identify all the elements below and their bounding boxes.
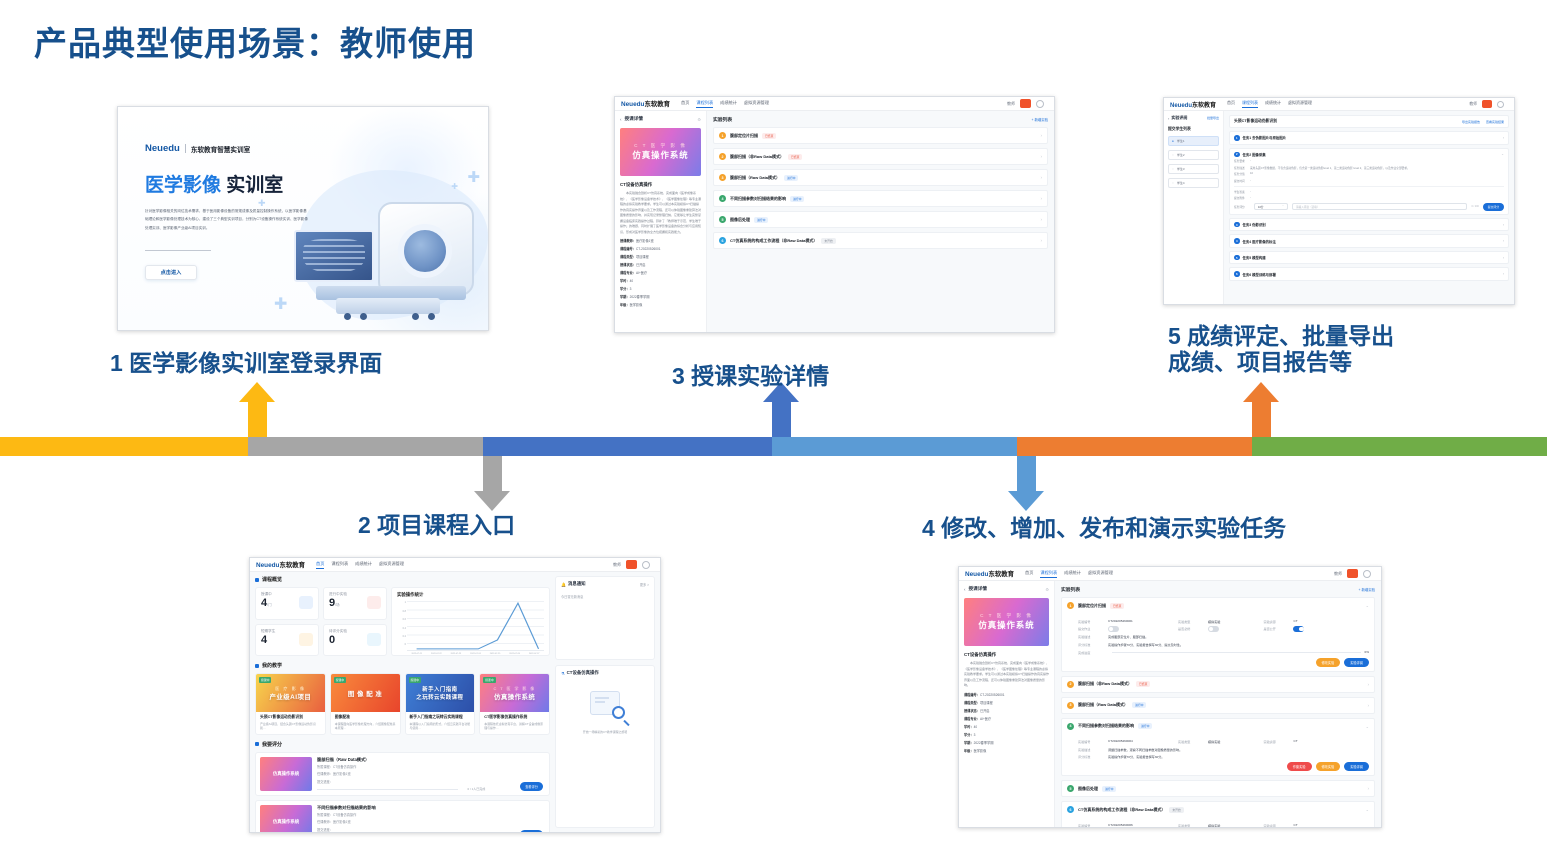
screenshot-course-detail: Neuedu东软教育 首页 课程列表 成绩统计 虚拟资源管理 教师 ‹ 授课详情… bbox=[614, 96, 1055, 333]
thumb-line2: 仿真操作系统 bbox=[273, 819, 299, 825]
back-to-review[interactable]: ‹ 实验评阅 批量导出 bbox=[1168, 115, 1219, 121]
experiment-row[interactable]: 2 腹部扫描（非Raw Data模式） 已结束 › bbox=[713, 148, 1048, 165]
field-value: CT bbox=[1293, 619, 1297, 624]
login-heading: 医学影像 实训室 bbox=[145, 170, 283, 197]
y-tick: 0.6 bbox=[403, 618, 406, 621]
course-detail-nav: 首页 课程列表 成绩统计 虚拟资源管理 bbox=[681, 100, 769, 108]
task-field: 提交附件- bbox=[1234, 196, 1504, 200]
brand-logo: Neuedu东软教育 bbox=[621, 99, 670, 108]
experiment-index: 1 bbox=[719, 132, 726, 139]
course-meta: 图像配准 本课程面向医学影像处理方向，介绍图像配准基本原理… bbox=[331, 712, 400, 734]
task-row-expanded: 2 任务2 图像采集 ⌄ 任务要求- 任务描述采用头颈CT影像数据，不包含运动伪… bbox=[1229, 148, 1509, 215]
grading-thumbnail: 仿真操作系统 bbox=[260, 805, 312, 833]
task-field: 学生答案- bbox=[1234, 190, 1504, 194]
field-key: 提交作业 bbox=[1078, 626, 1108, 632]
task-title: 任务5 模型构建 bbox=[1243, 255, 1266, 260]
void-experiment-button[interactable]: 作废实验 bbox=[1287, 762, 1312, 771]
student-item[interactable]: ○ 学生3 bbox=[1168, 164, 1219, 174]
experiment-name: 腹部扫描（非Raw Data模式） bbox=[1078, 681, 1132, 687]
student-item[interactable]: ● 学生1 bbox=[1168, 136, 1219, 146]
nav-item-home[interactable]: 首页 bbox=[681, 100, 689, 108]
experiment-row[interactable]: 2 腹部扫描（非Raw Data模式） 已结束 › bbox=[1061, 676, 1375, 693]
course-meta-row: 学分：3 bbox=[620, 286, 701, 291]
review-experiment-button[interactable]: 实验评阅 bbox=[1344, 762, 1369, 771]
screenshot-dashboard: Neuedu东软教育 首页 课程列表 成绩统计 虚拟资源管理 教师 课程概览 bbox=[249, 557, 661, 833]
course-desc: 产业级AI项目，结合头颈CT影像运动伪影识别… bbox=[260, 722, 321, 731]
edit-experiment-button[interactable]: 修改实验 bbox=[1316, 762, 1341, 771]
avatar[interactable] bbox=[626, 560, 637, 569]
field-key: 学生答案 bbox=[1234, 190, 1250, 194]
chevron-down-icon[interactable]: ⌄ bbox=[1366, 724, 1369, 729]
thumb-line2: 图 像 配 准 bbox=[348, 689, 382, 698]
experiment-name: 不同扫描参数对扫描结果的影响 bbox=[730, 196, 786, 202]
user-role-label: 教师 bbox=[1334, 571, 1342, 577]
experiment-name: 图像后处理 bbox=[1078, 786, 1098, 792]
experiment-card-expanded: 1 腹部定位片扫描 已结束 ⌄ 实验编号CT202205260001 实验类型模… bbox=[1061, 597, 1375, 672]
course-thumbnail: C T 医 学 影 像 仿真操作系统 bbox=[620, 128, 701, 176]
stat-card-teaching[interactable]: 授课中 4/门 bbox=[255, 587, 319, 620]
course-meta-row: 课程专业：AI+医疗 bbox=[620, 270, 701, 275]
grading-sidebar: ‹ 实验评阅 批量导出 提交学生列表 ● 学生1 ○ 学生2 ○ 学生3 bbox=[1164, 111, 1224, 304]
gear-icon[interactable]: ⚙ bbox=[1045, 587, 1049, 592]
course-meta-row: 学分：3 bbox=[964, 732, 1049, 737]
course-name: 头颈CT影像运动伪影识别 bbox=[260, 715, 321, 720]
chevron-right-icon[interactable]: › bbox=[1040, 154, 1042, 159]
section-bullet-icon bbox=[255, 664, 259, 668]
task-row[interactable]: 3 任务3 伪影识别 › bbox=[1229, 218, 1509, 232]
enter-button[interactable]: 点击进入 bbox=[145, 265, 197, 280]
timeline-arrow-down-4 bbox=[1008, 491, 1044, 511]
nav-item-score-stats[interactable]: 成绩统计 bbox=[1265, 100, 1281, 108]
experiment-row[interactable]: 3 腹部扫描（Raw Data模式） 进行中 › bbox=[1061, 697, 1375, 714]
nav-item-home[interactable]: 首页 bbox=[1227, 100, 1235, 108]
section-bullet-icon bbox=[255, 742, 259, 746]
experiment-header[interactable]: 6 CT仿真系统的构成工作流程（非Raw Data模式） 未开始 ⌄ bbox=[1062, 802, 1374, 817]
nav-item-home[interactable]: 首页 bbox=[316, 561, 324, 569]
nav-item-resource-mgmt[interactable]: 虚拟资源管理 bbox=[379, 561, 404, 569]
course-meta-row: 授课状态：已开启 bbox=[964, 708, 1049, 713]
timeline-caption-5: 5 成绩评定、批量导出 成绩、项目报告等 bbox=[1168, 323, 1394, 376]
y-tick: 1 bbox=[405, 601, 406, 604]
experiment-index: 1 bbox=[1067, 602, 1074, 609]
experiment-row[interactable]: 4 不同扫描参数对扫描结果的影响 进行中 › bbox=[713, 190, 1048, 207]
nav-item-score-stats[interactable]: 成绩统计 bbox=[1064, 570, 1081, 578]
chevron-right-icon[interactable]: › bbox=[1503, 256, 1504, 260]
chevron-right-icon[interactable]: › bbox=[1367, 703, 1369, 708]
notice-panel: 🔔 消息通知 更多 > 今日暂无新消息 bbox=[555, 576, 655, 660]
grading-title-text: 我要评分 bbox=[262, 741, 282, 748]
chevron-right-icon[interactable]: › bbox=[1367, 682, 1369, 687]
notification-icon[interactable] bbox=[642, 561, 650, 569]
public-toggle[interactable] bbox=[1293, 626, 1304, 632]
task-index: 2 bbox=[1234, 152, 1240, 158]
course-meta-row: 授课状态：已开启 bbox=[620, 262, 701, 267]
add-experiment-button[interactable]: + 新增实验 bbox=[1032, 117, 1048, 122]
task-edit-appbar: Neuedu东软教育 首页 课程列表 成绩统计 虚拟资源管理 教师 bbox=[959, 567, 1381, 581]
field-key: 实验编号 bbox=[1078, 619, 1108, 624]
experiment-list-title: 实验列表 bbox=[713, 116, 732, 123]
status-badge: 已结束 bbox=[788, 154, 802, 160]
timeline-arrow-up-5 bbox=[1243, 382, 1279, 402]
gear-icon[interactable]: ⚙ bbox=[697, 117, 701, 122]
x-tick: 2022-07-23 bbox=[451, 653, 462, 655]
nav-item-resource-mgmt[interactable]: 虚拟资源管理 bbox=[1088, 570, 1113, 578]
course-meta-row: 年级：医学影像 bbox=[620, 302, 701, 307]
experiment-row[interactable]: 1 腹部定位片扫描 已结束 › bbox=[713, 127, 1048, 144]
status-badge: 进行中 bbox=[1138, 723, 1152, 729]
search-illustration bbox=[561, 676, 649, 730]
notice-header: 🔔 消息通知 更多 > bbox=[561, 581, 649, 587]
field-key: 实验描述 bbox=[1078, 747, 1108, 752]
timeline-caption-3: 3 授课实验详情 bbox=[672, 363, 829, 389]
user-role-label: 教师 bbox=[1007, 101, 1015, 107]
task-row[interactable]: 6 任务6 模型训练与部署 › bbox=[1229, 267, 1509, 281]
stepper-icon[interactable]: ⌃ bbox=[1282, 205, 1284, 208]
section-bullet-icon bbox=[255, 578, 259, 582]
task-edit-nav: 首页 课程列表 成绩统计 虚拟资源管理 bbox=[1025, 570, 1113, 578]
field-value: 采用头颈CT影像数据，不包含运动伪影，包含第一类运动伪影level 1、第二类运… bbox=[1250, 166, 1410, 170]
user-role-label: 教师 bbox=[613, 562, 621, 568]
course-sidebar: ‹ 授课详情 ⚙ C T 医 学 影 像 仿真操作系统 CT设备仿真操作 本实验… bbox=[615, 111, 707, 332]
task-index: 3 bbox=[1234, 222, 1240, 228]
dashboard-appbar: Neuedu东软教育 首页 课程列表 成绩统计 虚拟资源管理 教师 bbox=[250, 558, 660, 572]
experiment-header[interactable]: 1 腹部定位片扫描 已结束 ⌄ bbox=[1062, 598, 1374, 613]
course-desc: 本课程以入门指南的形式，介绍云实践平台功能与使用… bbox=[410, 722, 471, 731]
nav-item-course-list[interactable]: 课程列表 bbox=[696, 100, 713, 108]
cloud-icon bbox=[367, 633, 381, 646]
timeline-caption-4: 4 修改、增加、发布和演示实验任务 bbox=[922, 515, 1286, 541]
comment-input[interactable]: 请输入评语（选填） bbox=[1292, 203, 1467, 210]
grading-progress-label: 提交进度： bbox=[317, 828, 545, 833]
stat-card-pending-grade[interactable]: 待评分实验 0 bbox=[323, 624, 387, 657]
notice-more-link[interactable]: 更多 > bbox=[640, 582, 649, 587]
task-title: 任务2 图像采集 bbox=[1243, 152, 1266, 157]
field-key: 评分标准 bbox=[1078, 642, 1108, 647]
xray-film-panel bbox=[294, 230, 374, 282]
task-title: 任务6 模型训练与部署 bbox=[1243, 272, 1276, 277]
notice-empty-text: 今日暂无新消息 bbox=[561, 594, 649, 599]
teaching-section-title: 我的教学 bbox=[255, 662, 550, 669]
chevron-down-icon[interactable]: ⌄ bbox=[1366, 807, 1369, 812]
nav-item-home[interactable]: 首页 bbox=[1025, 570, 1033, 578]
view-grade-button[interactable]: 查看评分 bbox=[520, 782, 543, 791]
y-tick: 0 bbox=[405, 643, 406, 646]
experiment-row[interactable]: 3 腹部扫描（Raw Data模式） 进行中 › bbox=[713, 169, 1048, 186]
status-badge: 未开始 bbox=[1169, 807, 1183, 813]
timeline-segment-orange bbox=[1017, 437, 1271, 456]
field-key: 提交时间 bbox=[1234, 179, 1250, 183]
task-row[interactable]: 5 任务5 模型构建 › bbox=[1229, 251, 1509, 265]
nav-item-score-stats[interactable]: 成绩统计 bbox=[720, 100, 737, 108]
course-thumbnail: C T 医 学 影 像 仿真操作系统 bbox=[964, 598, 1049, 646]
student-list-title: 提交学生列表 bbox=[1168, 127, 1219, 132]
grading-progress-label: 提交进度： bbox=[317, 780, 545, 785]
experiment-name: 腹部定位片扫描 bbox=[730, 133, 758, 139]
review-experiment-button[interactable]: 实验评阅 bbox=[1344, 658, 1369, 667]
ct-wheel bbox=[428, 313, 435, 320]
nav-item-resource-mgmt[interactable]: 虚拟资源管理 bbox=[744, 100, 769, 108]
grading-main: 头颈CT影像运动伪影识别 导出实验报告 查看实验结果 1 任务1 去伪影图片与原… bbox=[1224, 111, 1514, 304]
slide-canvas: 产品典型使用场景：教师使用 1 医学影像实训室登录界面 2 项目课程入口 3 授… bbox=[0, 0, 1547, 850]
grading-course: 所属课程：CT设备仿真操作 bbox=[317, 813, 545, 818]
appbar-right: 教师 bbox=[1334, 569, 1375, 578]
course-thumbnail: 授课中 新手入门指南 之玩转云实践课程 bbox=[406, 674, 475, 712]
course-name: 新手入门指南之玩转云实践课程 bbox=[410, 715, 471, 720]
timeline-segment-green bbox=[1252, 437, 1547, 456]
course-name: CT设备仿真操作 bbox=[620, 182, 701, 188]
view-result-button[interactable]: 查看实验结果 bbox=[1486, 120, 1504, 124]
course-description: 本实验融合剖析CT仿真系统，完成面向《医学成像系统》、《医学影像设备学技术》、《… bbox=[620, 191, 701, 235]
x-tick: 2022-07-25 bbox=[490, 653, 501, 655]
report-title: 头颈CT影像运动伪影识别 bbox=[1234, 119, 1277, 124]
task-field: 任务要求- bbox=[1234, 159, 1504, 163]
experiment-list-panel: 实验列表 + 新增实验 1 腹部定位片扫描 已结束 ⌄ 实验编号CT202205… bbox=[1055, 581, 1381, 827]
avatar[interactable] bbox=[1020, 99, 1031, 108]
notification-icon[interactable] bbox=[1036, 100, 1044, 108]
thumb-line2: 仿真操作系统 bbox=[632, 149, 688, 161]
score-label: 任务评分 bbox=[1234, 205, 1250, 209]
timeline-caption-2: 2 项目课程入口 bbox=[358, 512, 515, 538]
overview-title-text: 课程概览 bbox=[262, 576, 282, 583]
experiment-card-expanded: 4 不同扫描参数对扫描结果的影响 进行中 ⌄ 实验编号CT20220526000… bbox=[1061, 718, 1375, 777]
users-icon bbox=[299, 633, 313, 646]
field-key: 是否公开 bbox=[1263, 626, 1293, 632]
notice-title: 消息通知 bbox=[568, 581, 586, 587]
course-card[interactable]: 授课中 C T 医 学 影 像 仿真操作系统 CT医学影像仿真操作系统 本课程依… bbox=[479, 673, 550, 735]
experiment-list-panel: 实验列表 + 新增实验 1 腹部定位片扫描 已结束 › 2 腹部扫描（非Raw … bbox=[707, 111, 1054, 332]
experiment-list-header: 实验列表 + 新增实验 bbox=[1061, 586, 1375, 593]
widget-caption: 开始一场精彩的CT教学课程之旅吧 bbox=[561, 730, 649, 734]
brand-name-en: Neuedu bbox=[621, 101, 644, 108]
course-thumbnail: 授课中 医 疗 影 像 产业级AI项目 bbox=[256, 674, 325, 712]
experiment-row[interactable]: 5 图像后处理 进行中 › bbox=[1061, 780, 1375, 797]
student-name: 学生4 bbox=[1177, 181, 1185, 185]
avatar[interactable] bbox=[1482, 100, 1492, 108]
radio-icon: ● bbox=[1172, 139, 1174, 143]
course-name: CT医学影像仿真操作系统 bbox=[484, 715, 545, 720]
chevron-right-icon[interactable]: › bbox=[1040, 217, 1042, 222]
course-meta-row: 课程类型：项目课程 bbox=[620, 254, 701, 259]
experiment-index: 5 bbox=[1067, 785, 1074, 792]
progress-bar bbox=[317, 789, 458, 790]
course-meta-row: 学期：2022春季学期 bbox=[620, 294, 701, 299]
chevron-left-icon: ‹ bbox=[1168, 116, 1169, 121]
notification-icon[interactable] bbox=[1497, 101, 1504, 108]
field-key: 提交附件 bbox=[1234, 196, 1250, 200]
experiment-index: 3 bbox=[1067, 702, 1074, 709]
task-header[interactable]: 2 任务2 图像采集 ⌄ bbox=[1234, 152, 1504, 158]
course-meta: 头颈CT影像运动伪影识别 产业级AI项目，结合头颈CT影像运动伪影识别… bbox=[256, 712, 325, 734]
back-label: 授课详情 bbox=[969, 586, 987, 592]
teaching-title-text: 我的教学 bbox=[262, 662, 282, 669]
stat-card-students[interactable]: 短期学生 4 bbox=[255, 624, 319, 657]
task-field: 任务描述采用头颈CT影像数据，不包含运动伪影，包含第一类运动伪影level 1、… bbox=[1234, 166, 1504, 170]
course-desc: 本课程依托虚拟仿真平台，讲解CT设备成像原理与操作… bbox=[484, 722, 545, 731]
experiment-header[interactable]: 4 不同扫描参数对扫描结果的影响 进行中 ⌄ bbox=[1062, 719, 1374, 734]
radio-icon: ○ bbox=[1172, 167, 1174, 171]
edit-experiment-button[interactable]: 修改实验 bbox=[1316, 658, 1341, 667]
experiment-name: 不同扫描参数对扫描结果的影响 bbox=[1078, 723, 1134, 729]
task-row[interactable]: 1 任务1 去伪影图片与原始图片 › bbox=[1229, 131, 1509, 145]
thumb-line2: 仿真操作系统 bbox=[273, 771, 299, 777]
nav-item-score-stats[interactable]: 成绩统计 bbox=[355, 561, 372, 569]
timeline-segment-darkblue bbox=[483, 437, 791, 456]
field-key: 完成进度 bbox=[1078, 650, 1108, 655]
radio-icon: ○ bbox=[1172, 181, 1174, 185]
course-meta-row: 学期：2022春季学期 bbox=[964, 740, 1049, 745]
field-key: 任务要求 bbox=[1234, 159, 1250, 163]
ct-wheel bbox=[412, 313, 419, 320]
task-title: 任务4 医疗影像的标注 bbox=[1243, 239, 1276, 244]
back-to-course[interactable]: ‹ 授课详情 ⚙ bbox=[620, 116, 701, 122]
dashboard-nav: 首页 课程列表 成绩统计 虚拟资源管理 bbox=[316, 561, 404, 569]
experiment-details: 实验编号CT202205260004 实验类型模拟实验 实验资源CT 实验描述调… bbox=[1062, 734, 1374, 776]
grading-appbar: Neuedu东软教育 首页 课程列表 成绩统计 虚拟资源管理 教师 bbox=[1164, 98, 1514, 111]
field-value: - bbox=[1250, 179, 1251, 183]
logo-divider bbox=[185, 144, 186, 153]
progress-text: 0 / 1人已完成 bbox=[467, 787, 485, 791]
chevron-right-icon[interactable]: › bbox=[1040, 238, 1042, 243]
stat-unit: /门 bbox=[267, 603, 271, 607]
chevron-right-icon[interactable]: › bbox=[1040, 133, 1042, 138]
grading-nav: 首页 课程列表 成绩统计 虚拟资源管理 bbox=[1227, 100, 1312, 108]
bell-icon: 🔔 bbox=[561, 582, 566, 587]
experiment-details: 实验编号CT202205260006 实验类型模拟实验 实验资源CT 实验描述熟… bbox=[1062, 817, 1374, 828]
timeline-arrow-up-1 bbox=[239, 382, 275, 402]
grading-row[interactable]: 仿真操作系统 腹部扫描（Raw Data模式） 所属课程：CT设备仿真操作 任课… bbox=[255, 752, 550, 796]
field-value: 模拟实验 bbox=[1208, 739, 1220, 744]
student-name: 学生1 bbox=[1177, 139, 1185, 143]
widget-panel: ⚗ CT设备仿真操作 开始一场精彩的CT教学课程之旅吧 bbox=[555, 665, 655, 828]
chevron-right-icon[interactable]: › bbox=[1367, 786, 1369, 791]
experiment-row[interactable]: 6 CT仿真系统的构成工作流程（非Raw Data模式） 未开始 › bbox=[713, 232, 1048, 249]
progress-bar bbox=[1112, 652, 1361, 653]
field-key: 是否必修 bbox=[1178, 626, 1208, 632]
field-value: 模拟实验 bbox=[1208, 823, 1220, 828]
status-badge: 进行中 bbox=[784, 175, 798, 181]
brand-name-en: Neuedu bbox=[1170, 103, 1192, 109]
plus-decor-icon: ✚ bbox=[451, 182, 458, 191]
back-to-course[interactable]: ‹ 授课详情 ⚙ bbox=[964, 586, 1049, 592]
ct-table-base bbox=[336, 298, 440, 314]
notification-icon[interactable] bbox=[1363, 570, 1371, 578]
course-meta-row: 课程专业：AI+医疗 bbox=[964, 716, 1049, 721]
field-value: 调整扫描参数，观察不同扫描参数对图像质量的影响。 bbox=[1108, 747, 1182, 752]
avatar[interactable] bbox=[1347, 569, 1358, 578]
book-icon bbox=[299, 596, 313, 609]
grading-teacher: 任课教师：医疗影像1班 bbox=[317, 820, 545, 825]
nav-item-course-list[interactable]: 课程列表 bbox=[1040, 570, 1057, 578]
field-value: CT202205260004 bbox=[1108, 739, 1133, 744]
task-row[interactable]: 4 任务4 医疗影像的标注 › bbox=[1229, 234, 1509, 248]
stat-card-running-exp[interactable]: 进行中实验 9/场 bbox=[323, 587, 387, 620]
course-status-badge: 授课中 bbox=[483, 677, 495, 683]
login-description: 针对医学影像相关的岗位技术需求，基于医用影像设备的常规成像及质量控制操作系统，以… bbox=[145, 207, 308, 232]
user-role-label: 教师 bbox=[1469, 102, 1477, 107]
page-title: 产品典型使用场景：教师使用 bbox=[34, 17, 476, 65]
flask-icon: ⚗ bbox=[561, 671, 565, 676]
grading-body: 腹部扫描（Raw Data模式） 所属课程：CT设备仿真操作 任课教师：医疗影像… bbox=[317, 757, 545, 791]
chevron-right-icon[interactable]: › bbox=[1503, 223, 1504, 227]
timeline-segment-lightblue bbox=[772, 437, 1036, 456]
student-item[interactable]: ○ 学生4 bbox=[1168, 178, 1219, 188]
task-index: 6 bbox=[1234, 271, 1240, 277]
grading-exp-name: 腹部扫描（Raw Data模式） bbox=[317, 757, 545, 763]
nav-item-resource-mgmt[interactable]: 虚拟资源管理 bbox=[1288, 100, 1312, 108]
nav-item-course-list[interactable]: 课程列表 bbox=[1242, 100, 1258, 108]
course-card[interactable]: 授课中 医 疗 影 像 产业级AI项目 头颈CT影像运动伪影识别 产业级AI项目… bbox=[255, 673, 326, 735]
status-badge: 已结束 bbox=[1136, 681, 1150, 687]
chart-line bbox=[407, 601, 544, 650]
status-badge: 进行中 bbox=[754, 217, 768, 223]
ct-bore bbox=[398, 224, 452, 278]
chevron-right-icon[interactable]: › bbox=[1040, 196, 1042, 201]
status-badge: 进行中 bbox=[1102, 786, 1116, 792]
submit-homework-toggle[interactable] bbox=[1108, 626, 1119, 632]
thumb-line2: 产业级AI项目 bbox=[269, 692, 311, 701]
course-card[interactable]: 授课中 新手入门指南 之玩转云实践课程 新手入门指南之玩转云实践课程 本课程以入… bbox=[405, 673, 476, 735]
nav-item-course-list[interactable]: 课程列表 bbox=[331, 561, 348, 569]
field-value: - bbox=[1250, 159, 1251, 163]
ct-wheel bbox=[344, 313, 351, 320]
view-grade-button[interactable]: 查看评分 bbox=[520, 830, 543, 833]
add-experiment-button[interactable]: + 新增实验 bbox=[1359, 587, 1375, 592]
chevron-down-icon[interactable]: ⌄ bbox=[1501, 152, 1504, 156]
screenshot-task-edit: Neuedu东软教育 首页 课程列表 成绩统计 虚拟资源管理 教师 ‹ 授课详情… bbox=[958, 566, 1382, 828]
field-value: CT bbox=[1293, 823, 1297, 828]
timeline-caption-1: 1 医学影像实训室登录界面 bbox=[110, 350, 382, 376]
task-field: 任务分值10 bbox=[1234, 172, 1504, 176]
overview-section-title: 课程概览 bbox=[255, 576, 550, 583]
experiment-name: CT仿真系统的构成工作流程（非Raw Data模式） bbox=[1078, 807, 1165, 813]
student-item[interactable]: ○ 学生2 bbox=[1168, 150, 1219, 160]
brand-name-cn: 东软教育 bbox=[279, 562, 305, 569]
grading-section-title: 我要评分 bbox=[255, 741, 550, 748]
status-badge: 未开始 bbox=[821, 238, 835, 244]
chevron-down-icon[interactable]: ⌄ bbox=[1366, 603, 1369, 608]
score-input[interactable]: 10分 ⌃ bbox=[1254, 203, 1288, 210]
submit-score-button[interactable]: 提交评分 bbox=[1483, 203, 1504, 211]
grading-course: 所属课程：CT设备仿真操作 bbox=[317, 765, 545, 770]
experiment-name: 图像后处理 bbox=[730, 217, 750, 223]
field-key: 实验类型 bbox=[1178, 619, 1208, 624]
course-meta-row: 学时：40 bbox=[964, 724, 1049, 729]
field-key: 任务描述 bbox=[1234, 166, 1250, 170]
course-card[interactable]: 授课中 图 像 配 准 图像配准 本课程面向医学影像处理方向，介绍图像配准基本原… bbox=[330, 673, 401, 735]
status-badge: 进行中 bbox=[1132, 702, 1146, 708]
grading-row[interactable]: 仿真操作系统 不同扫描参数对扫描结果的影响 所属课程：CT设备仿真操作 任课教师… bbox=[255, 800, 550, 833]
field-value: CT bbox=[1293, 739, 1297, 744]
grading-exp-name: 不同扫描参数对扫描结果的影响 bbox=[317, 805, 545, 811]
course-meta-row: 课程编号：CT-20220526001 bbox=[620, 246, 701, 251]
course-meta: CT医学影像仿真操作系统 本课程依托虚拟仿真平台，讲解CT设备成像原理与操作… bbox=[480, 712, 549, 734]
experiment-name: 腹部扫描（非Raw Data模式） bbox=[730, 154, 784, 160]
status-badge: 已结束 bbox=[1110, 603, 1124, 609]
task-header: 5 任务5 模型构建 › bbox=[1234, 255, 1504, 261]
student-name: 学生3 bbox=[1177, 167, 1185, 171]
course-status-badge: 授课中 bbox=[259, 677, 271, 683]
plus-decor-icon: ✚ bbox=[274, 294, 287, 314]
export-report-button[interactable]: 导出实验报告 bbox=[1462, 120, 1480, 124]
required-toggle[interactable] bbox=[1208, 626, 1219, 632]
chevron-right-icon[interactable]: › bbox=[1503, 239, 1504, 243]
status-badge: 已结束 bbox=[762, 133, 776, 139]
chevron-right-icon[interactable]: › bbox=[1040, 175, 1042, 180]
export-button[interactable]: 批量导出 bbox=[1207, 116, 1219, 120]
chevron-right-icon[interactable]: › bbox=[1503, 136, 1504, 140]
chevron-right-icon[interactable]: › bbox=[1503, 272, 1504, 276]
experiment-row[interactable]: 5 图像后处理 进行中 › bbox=[713, 211, 1048, 228]
